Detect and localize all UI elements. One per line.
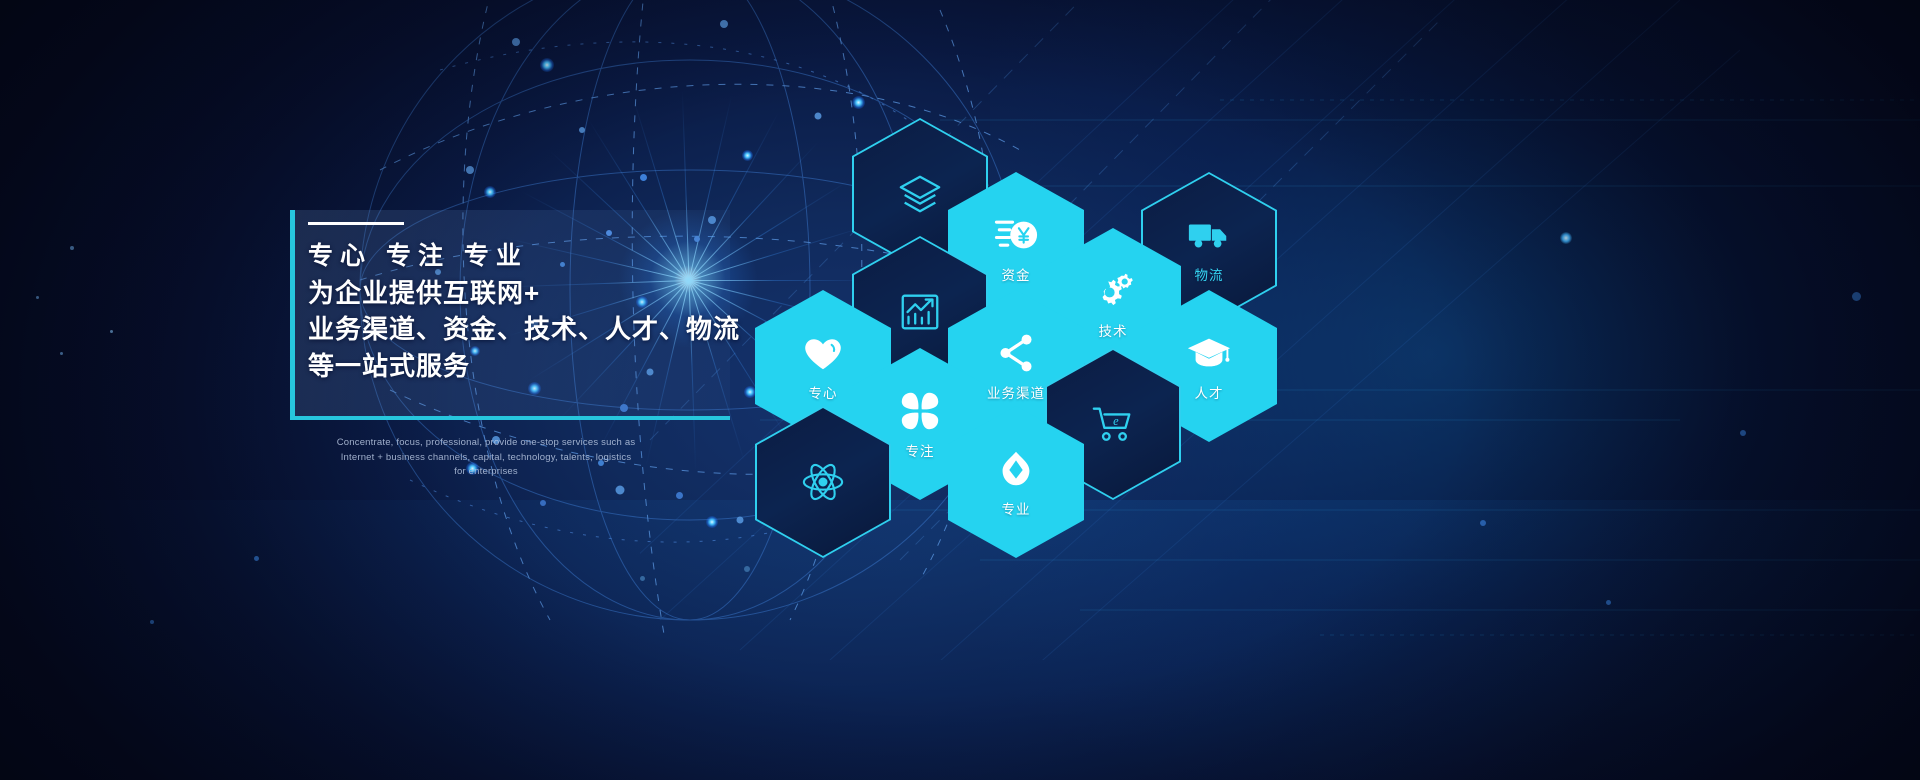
- money-yen-icon: [993, 212, 1039, 258]
- heart-icon: [800, 330, 846, 376]
- hexagon-label: 人才: [1195, 382, 1224, 402]
- hexagon-label: 业务渠道: [987, 382, 1045, 402]
- hexagon-label: 专业: [1002, 498, 1031, 518]
- headline-line-2: 为企业提供互联网+: [308, 275, 778, 312]
- gears-icon: [1090, 268, 1136, 314]
- hexagon-label: 物流: [1195, 264, 1224, 284]
- svg-text:e: e: [1113, 414, 1119, 428]
- hexagon-professional[interactable]: 专业: [948, 406, 1084, 558]
- shopping-cart-e-icon: e: [1090, 401, 1136, 447]
- headline-rule: [308, 222, 404, 225]
- share-network-icon: [993, 330, 1039, 376]
- hexagon-label: 专注: [906, 440, 935, 460]
- headline-copy: 专心 专注 专业 为企业提供互联网+ 业务渠道、资金、技术、人才、物流 等一站式…: [308, 222, 778, 385]
- headline-line-1: 专心 专注 专业: [308, 239, 778, 275]
- hexagon-label: 专心: [809, 382, 838, 402]
- hexagon-label: 技术: [1099, 320, 1128, 340]
- headline-line-4: 等一站式服务: [308, 348, 778, 385]
- headline-line-3: 业务渠道、资金、技术、人才、物流: [308, 311, 778, 348]
- hexagon-atom[interactable]: [755, 406, 891, 558]
- diamond-icon: [993, 446, 1039, 492]
- banner-stage: 资金 物流: [0, 0, 1920, 780]
- clover-icon: [897, 388, 943, 434]
- hexagon-cluster: 资金 物流: [0, 0, 1920, 780]
- hexagon-label: 资金: [1002, 264, 1031, 284]
- english-caption: Concentrate, focus, professional, provid…: [336, 436, 636, 480]
- truck-icon: [1186, 212, 1232, 258]
- growth-chart-icon: [897, 289, 943, 335]
- atom-icon: [800, 459, 846, 505]
- graduation-cap-icon: [1186, 330, 1232, 376]
- layers-icon: [897, 171, 943, 217]
